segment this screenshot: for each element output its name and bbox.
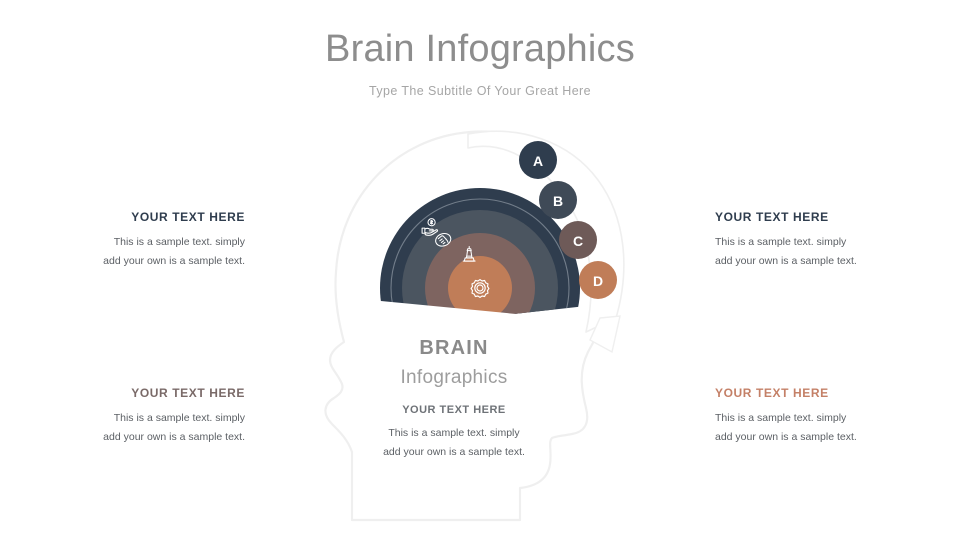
text-block-line: add your own is a sample text. [45, 428, 245, 447]
text-block-heading: YOUR TEXT HERE [715, 210, 915, 224]
center-body: This is a sample text. simply add your o… [344, 424, 564, 462]
center-body-line: add your own is a sample text. [344, 443, 564, 462]
center-heading: YOUR TEXT HERE [344, 403, 564, 417]
text-block-top-left: YOUR TEXT HERE This is a sample text. si… [45, 210, 245, 271]
bubble-d-label: D [593, 273, 603, 289]
center-body-line: This is a sample text. simply [344, 424, 564, 443]
center-text-block: BRAIN Infographics YOUR TEXT HERE This i… [344, 336, 564, 462]
bubble-c[interactable]: C [559, 221, 597, 259]
text-block-bottom-left: YOUR TEXT HERE This is a sample text. si… [45, 386, 245, 447]
text-block-line: This is a sample text. simply [45, 233, 245, 252]
slide-canvas: Brain Infographics Type The Subtitle Of … [0, 0, 960, 540]
text-block-line: add your own is a sample text. [715, 428, 915, 447]
bubble-d[interactable]: D [579, 261, 617, 299]
bubble-a[interactable]: A [519, 141, 557, 179]
text-block-line: This is a sample text. simply [715, 233, 915, 252]
text-block-heading: YOUR TEXT HERE [45, 210, 245, 224]
text-block-line: add your own is a sample text. [715, 252, 915, 271]
text-block-heading: YOUR TEXT HERE [715, 386, 915, 400]
bubble-c-label: C [573, 233, 583, 249]
bubble-b-label: B [553, 193, 563, 209]
center-title: BRAIN [344, 336, 564, 360]
text-block-line: This is a sample text. simply [715, 409, 915, 428]
text-block-heading: YOUR TEXT HERE [45, 386, 245, 400]
text-block-top-right: YOUR TEXT HERE This is a sample text. si… [715, 210, 915, 271]
text-block-line: This is a sample text. simply [45, 409, 245, 428]
bubble-a-label: A [533, 153, 543, 169]
bubble-b[interactable]: B [539, 181, 577, 219]
center-subtitle: Infographics [344, 363, 564, 393]
text-block-bottom-right: YOUR TEXT HERE This is a sample text. si… [715, 386, 915, 447]
text-block-line: add your own is a sample text. [45, 252, 245, 271]
